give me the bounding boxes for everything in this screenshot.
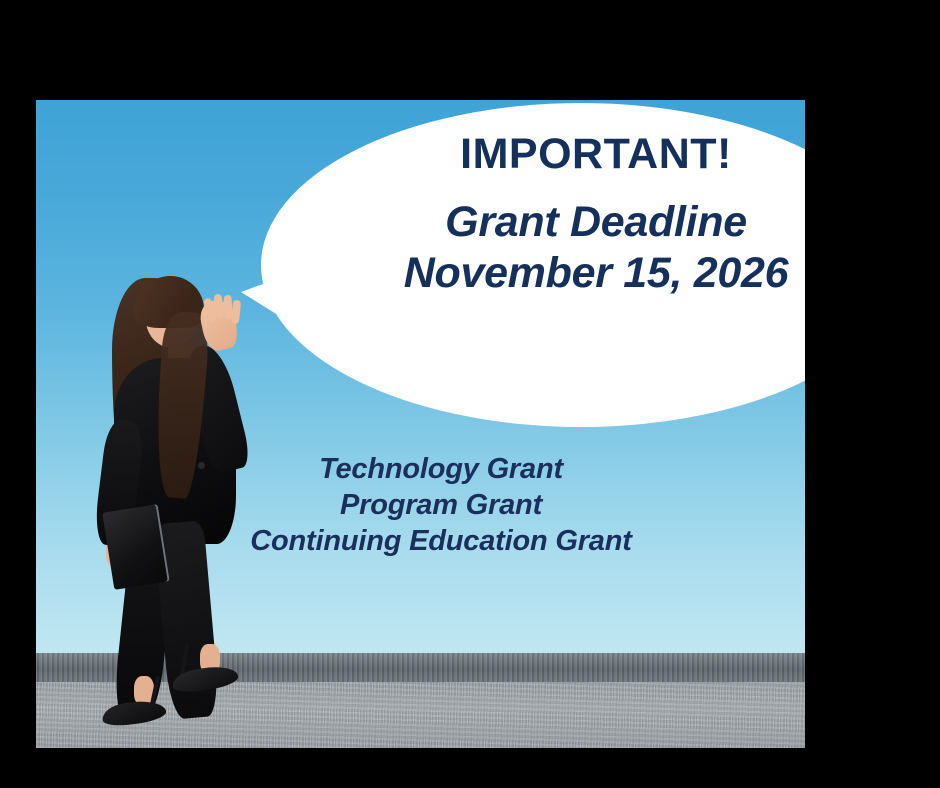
grant-deadline-poster: IMPORTANT! Grant Deadline November 15, 2… (36, 100, 805, 748)
jacket-button (198, 462, 205, 469)
finger (231, 300, 241, 325)
announcement-text-block: IMPORTANT! Grant Deadline November 15, 2… (336, 132, 805, 297)
headline-important: IMPORTANT! (336, 132, 805, 178)
folder-prop (102, 504, 170, 590)
canvas: IMPORTANT! Grant Deadline November 15, 2… (0, 0, 940, 788)
subheadline-deadline-date: November 15, 2026 (336, 251, 805, 297)
subheadline-grant-deadline: Grant Deadline (336, 200, 805, 246)
shoe-left (101, 698, 167, 729)
grant-item-continuing-education: Continuing Education Grant (141, 524, 741, 560)
